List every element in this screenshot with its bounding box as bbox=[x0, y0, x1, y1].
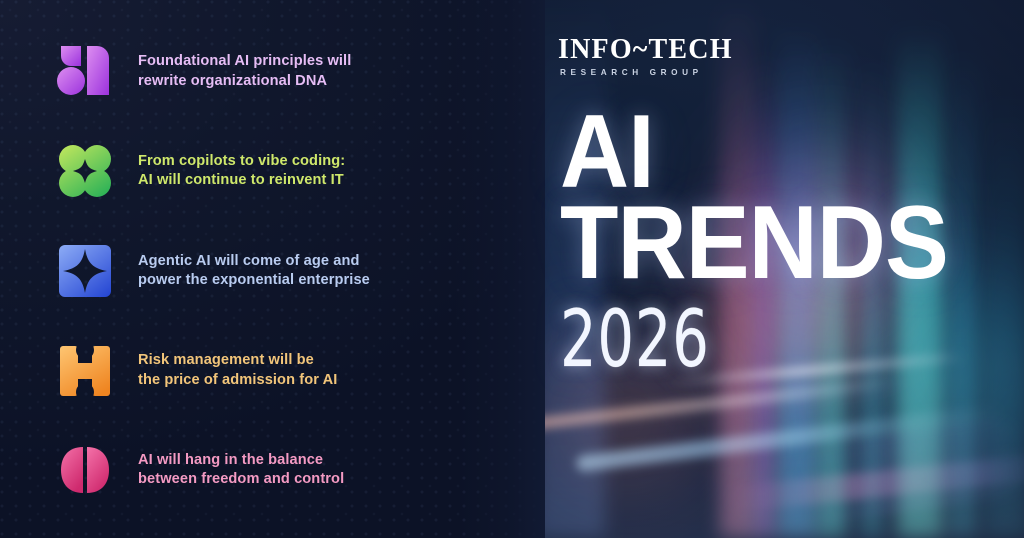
poster-canvas: Foundational AI principles will rewrite … bbox=[0, 0, 1024, 538]
poster-title: AI TRENDS 2026 bbox=[560, 108, 980, 377]
title-line-ai: AI bbox=[560, 108, 946, 197]
trend-item-3-label: Agentic AI will come of age and power th… bbox=[138, 252, 370, 291]
trend-item-3[interactable]: Agentic AI will come of age and power th… bbox=[0, 221, 545, 321]
trend-item-1-label: Foundational AI principles will rewrite … bbox=[138, 52, 351, 91]
brand-logo: INFO~TECH RESEARCH GROUP bbox=[558, 36, 758, 77]
brand-name: INFO~TECH bbox=[558, 36, 758, 64]
cross-plus-icon bbox=[56, 342, 114, 400]
trend-item-1[interactable]: Foundational AI principles will rewrite … bbox=[0, 22, 545, 122]
foundational-blocks-icon bbox=[56, 43, 114, 101]
trend-item-5[interactable]: AI will hang in the balance between free… bbox=[0, 420, 545, 520]
trend-item-2-label: From copilots to vibe coding: AI will co… bbox=[138, 152, 345, 191]
title-year: 2026 bbox=[560, 303, 904, 377]
title-line-trends: TRENDS bbox=[560, 199, 946, 288]
trend-item-4[interactable]: Risk management will be the price of adm… bbox=[0, 321, 545, 421]
butterfly-balance-icon bbox=[56, 441, 114, 499]
trends-panel: Foundational AI principles will rewrite … bbox=[0, 0, 545, 538]
clover-circles-icon bbox=[56, 142, 114, 200]
trend-item-4-label: Risk management will be the price of adm… bbox=[138, 351, 337, 390]
trend-item-2[interactable]: From copilots to vibe coding: AI will co… bbox=[0, 122, 545, 222]
star-square-icon bbox=[56, 242, 114, 300]
brand-tagline: RESEARCH GROUP bbox=[558, 69, 758, 77]
trend-list: Foundational AI principles will rewrite … bbox=[0, 0, 545, 538]
trend-item-5-label: AI will hang in the balance between free… bbox=[138, 451, 344, 490]
